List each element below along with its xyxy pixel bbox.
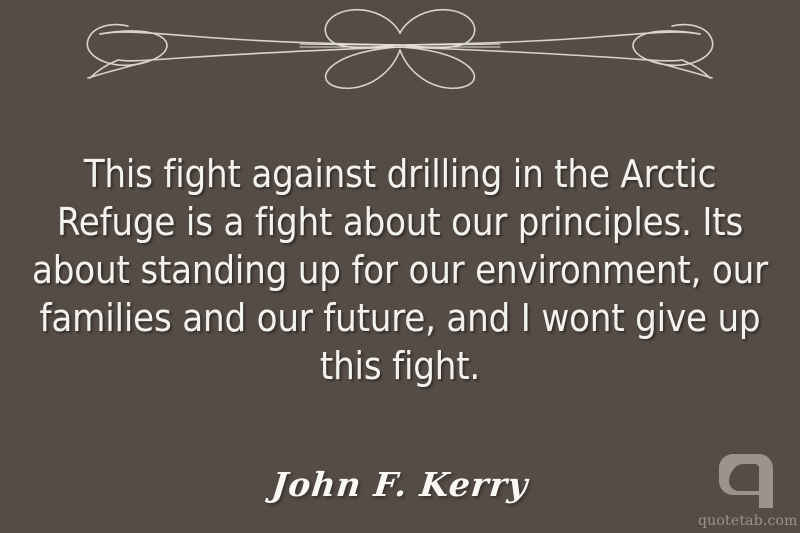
watermark[interactable]: quotetab.com: [698, 454, 794, 529]
quote-block: This fight against drilling in the Arcti…: [30, 150, 770, 390]
quote-text: This fight against drilling in the Arcti…: [30, 150, 770, 390]
ornament-flourish-icon: [0, 0, 800, 100]
watermark-label: quotetab.com: [698, 513, 794, 529]
author-name: John F. Kerry: [270, 465, 530, 504]
quote-card: This fight against drilling in the Arcti…: [0, 0, 800, 533]
quotetab-q-logo-icon[interactable]: [719, 454, 773, 512]
author-block: John F. Kerry: [0, 465, 800, 504]
